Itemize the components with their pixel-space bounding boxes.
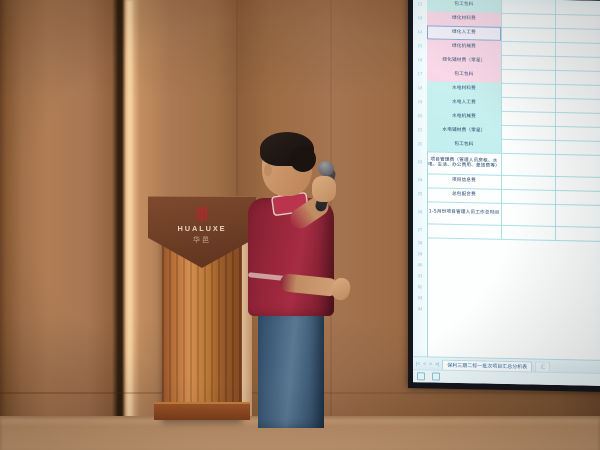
spreadsheet-cell-value[interactable] xyxy=(555,226,600,241)
row-number: 20 xyxy=(413,114,427,118)
row-number: 23 xyxy=(413,160,427,164)
presenter xyxy=(236,128,376,428)
spreadsheet-cell-value[interactable] xyxy=(555,84,600,99)
row-number: 31 xyxy=(413,274,427,278)
grid-line-vertical xyxy=(501,0,502,239)
spreadsheet-cell-value[interactable] xyxy=(501,153,555,176)
row-number: 12 xyxy=(413,2,427,6)
spreadsheet-cell-value[interactable] xyxy=(501,111,555,126)
spreadsheet-cell-label[interactable]: 总包配合费 xyxy=(427,187,501,202)
hualuxe-bars-logo-icon xyxy=(197,207,208,222)
spreadsheet-cell-value[interactable] xyxy=(501,13,555,28)
row-number: 19 xyxy=(413,100,427,104)
spreadsheet-cell-value[interactable] xyxy=(501,69,555,84)
spreadsheet-cell-value[interactable] xyxy=(555,70,600,85)
spreadsheet-cell-label[interactable]: 包工包料 xyxy=(427,137,501,152)
row-number: 22 xyxy=(413,142,427,146)
spreadsheet-cell-value[interactable] xyxy=(501,0,555,14)
spreadsheet-cell-value[interactable] xyxy=(501,125,555,140)
spreadsheet-cell-label[interactable]: 包工包料 xyxy=(427,67,501,82)
spreadsheet-cell-label[interactable]: 水电材料费 xyxy=(427,81,501,96)
row-number: 14 xyxy=(413,30,427,34)
spreadsheet-cell-label[interactable]: 水电机械费 xyxy=(427,109,501,124)
brand-name-cn: 华邑 xyxy=(193,235,211,245)
status-bar xyxy=(413,369,600,386)
spreadsheet-cell-value[interactable] xyxy=(501,97,555,112)
row-number: 30 xyxy=(413,263,427,267)
nav-prev-sheet-icon[interactable]: < xyxy=(423,361,426,367)
spreadsheet-cell-label[interactable]: 项目信息费 xyxy=(427,173,501,188)
spreadsheet-cell-value[interactable] xyxy=(501,55,555,70)
row-number: 15 xyxy=(413,44,427,48)
nav-last-sheet-icon[interactable]: >| xyxy=(435,361,439,367)
row-number: 21 xyxy=(413,128,427,132)
sheet-tab-next[interactable]: 汇 xyxy=(535,361,550,371)
spreadsheet-cell-label[interactable]: 1-5月份项目管理人员工作总时间 xyxy=(427,201,501,224)
spreadsheet-cell-value[interactable] xyxy=(555,190,600,205)
wall-vertical-seam xyxy=(118,0,120,450)
spreadsheet-grid: 包工包料绿化材料费绿化人工费绿化机械费绿化辅材费（零星）包工包料水电材料费水电人… xyxy=(427,0,600,386)
row-number: 16 xyxy=(413,58,427,62)
spreadsheet-cell-value[interactable] xyxy=(555,0,600,15)
row-number: 28 xyxy=(413,241,427,245)
spreadsheet-cell-value[interactable] xyxy=(501,175,555,190)
presenter-ear xyxy=(264,164,272,176)
spreadsheet-cell-value[interactable] xyxy=(555,140,600,155)
spreadsheet-cell-value[interactable] xyxy=(555,204,600,227)
spreadsheet-cell-value[interactable] xyxy=(555,112,600,127)
ready-icon xyxy=(417,372,425,380)
row-number: 32 xyxy=(413,285,427,289)
row-number: 26 xyxy=(413,210,427,214)
presenter-trousers xyxy=(258,310,324,428)
presenter-right-hand xyxy=(312,176,336,202)
spreadsheet-cell-value[interactable] xyxy=(555,126,600,141)
spreadsheet-cell-value[interactable] xyxy=(501,189,555,204)
spreadsheet-canvas[interactable]: 1213141516171819202122232425262728293031… xyxy=(413,0,600,386)
spreadsheet-cell-label[interactable]: 水电人工费 xyxy=(427,95,501,110)
spreadsheet-cell-value[interactable] xyxy=(555,56,600,71)
row-number: 25 xyxy=(413,192,427,196)
spreadsheet-cell-value[interactable] xyxy=(501,41,555,56)
spreadsheet-cell-value[interactable] xyxy=(555,176,600,191)
spreadsheet-cell-value[interactable] xyxy=(555,42,600,57)
presenter-hair xyxy=(260,132,314,166)
spreadsheet-cell-value[interactable] xyxy=(501,139,555,154)
grid-line-vertical xyxy=(555,0,556,240)
spreadsheet-cell-value[interactable] xyxy=(501,83,555,98)
spreadsheet-cell-label[interactable]: 绿化辅材费（零星） xyxy=(427,53,501,68)
spreadsheet-cell-label[interactable]: 项目管理费（管理人员房租、水电、生活、办公费用、差旅费等） xyxy=(427,151,501,174)
wall-light-strip xyxy=(124,0,134,450)
spreadsheet-cell-label[interactable]: 绿化材料费 xyxy=(427,11,501,26)
row-header-column: 1213141516171819202122232425262728293031… xyxy=(413,0,428,382)
nav-first-sheet-icon[interactable]: |< xyxy=(416,361,420,367)
row-number: 17 xyxy=(413,72,427,76)
page-layout-icon[interactable] xyxy=(432,372,440,380)
projection-screen: 1213141516171819202122232425262728293031… xyxy=(408,0,600,392)
spreadsheet-cell-label[interactable]: 绿化人工费 xyxy=(427,25,501,40)
spreadsheet-cell-value[interactable] xyxy=(555,154,600,177)
brand-name: HUALUXE xyxy=(177,224,226,233)
nav-next-sheet-icon[interactable]: > xyxy=(429,361,432,367)
projection-screen-surface: 1213141516171819202122232425262728293031… xyxy=(413,0,600,386)
row-number: 24 xyxy=(413,178,427,182)
spreadsheet-cell-value[interactable] xyxy=(501,27,555,42)
spreadsheet-cell-label[interactable]: 绿化机械费 xyxy=(427,39,501,54)
spreadsheet-cell-value[interactable] xyxy=(501,203,555,226)
spreadsheet-cell-label[interactable] xyxy=(427,223,501,238)
screenshot-root: 1213141516171819202122232425262728293031… xyxy=(0,0,600,450)
spreadsheet-cell-value[interactable] xyxy=(501,225,555,240)
spreadsheet-cell-label[interactable]: 水电辅材费（零星） xyxy=(427,123,501,138)
row-number: 18 xyxy=(413,86,427,90)
spreadsheet-cell-value[interactable] xyxy=(555,28,600,43)
spreadsheet-cell-value[interactable] xyxy=(555,14,600,29)
row-number: 27 xyxy=(413,228,427,232)
spreadsheet-cell-value[interactable] xyxy=(555,98,600,113)
row-number: 13 xyxy=(413,16,427,20)
row-number: 34 xyxy=(413,307,427,311)
row-number: 33 xyxy=(413,296,427,300)
row-number: 29 xyxy=(413,252,427,256)
